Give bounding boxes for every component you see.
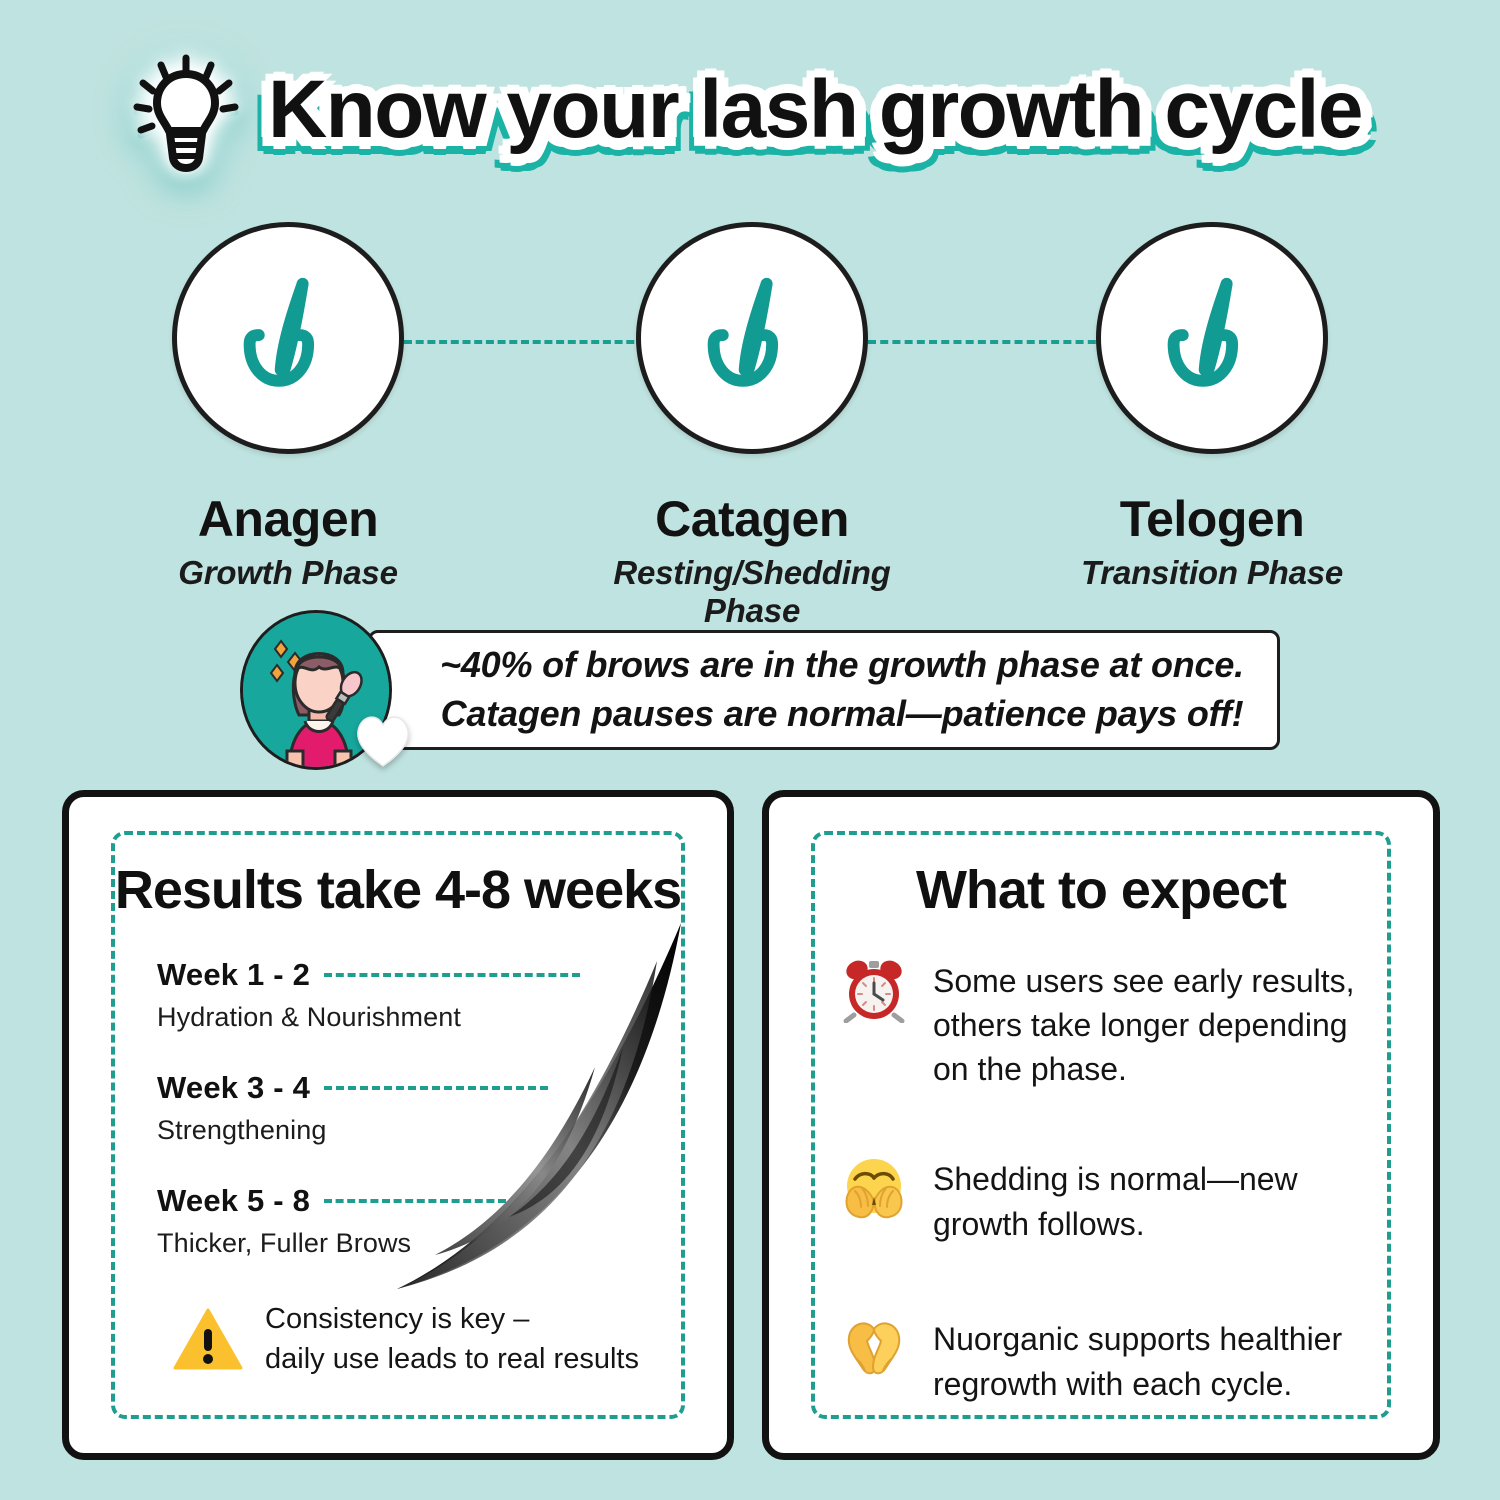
expectations-list: Some users see early results, others tak… <box>841 957 1375 1475</box>
alarm-clock-icon <box>841 957 907 1023</box>
list-item: Some users see early results, others tak… <box>841 957 1375 1091</box>
week-dashed-line <box>324 1086 548 1090</box>
note-line-1: Consistency is key – <box>265 1303 529 1335</box>
week-item: Week 3 - 4 Strengthening <box>157 1070 677 1183</box>
phase-anagen: Anagen Growth Phase <box>138 222 438 592</box>
page-title: Know your lash growth cycle <box>260 63 1370 163</box>
week-head: Week 5 - 8 <box>157 1183 677 1219</box>
page-header: Know your lash growth cycle <box>0 48 1500 178</box>
heart-hands-icon <box>841 1315 907 1381</box>
phase-catagen: Catagen Resting/Shedding Phase <box>602 222 902 630</box>
consistency-note-text: Consistency is key – daily use leads to … <box>265 1299 639 1379</box>
week-label: Week 1 - 2 <box>157 957 310 993</box>
phase-name: Catagen <box>602 490 902 548</box>
weeks-list: Week 1 - 2 Hydration & Nourishment Week … <box>157 957 677 1296</box>
phase-circle <box>1096 222 1328 454</box>
phase-subtitle: Growth Phase <box>138 554 438 592</box>
week-item: Week 5 - 8 Thicker, Fuller Brows <box>157 1183 677 1296</box>
face-with-hands-over-mouth-icon <box>841 1155 907 1221</box>
week-head: Week 3 - 4 <box>157 1070 677 1106</box>
expectations-panel-title: What to expect <box>769 859 1433 921</box>
list-item: Nuorganic supports healthier regrowth wi… <box>841 1315 1375 1411</box>
week-description: Strengthening <box>157 1115 677 1146</box>
phase-row: Anagen Growth Phase Catagen Resting/Shed… <box>0 222 1500 582</box>
white-heart-icon <box>352 710 414 768</box>
expectation-text: Some users see early results, others tak… <box>933 957 1375 1091</box>
consistency-note: Consistency is key – daily use leads to … <box>173 1299 673 1379</box>
hair-follicle-icon <box>1148 267 1276 410</box>
week-dashed-line <box>324 1199 506 1203</box>
results-panel: Results take 4-8 weeks <box>62 790 734 1460</box>
phase-telogen: Telogen Transition Phase <box>1062 222 1362 592</box>
week-head: Week 1 - 2 <box>157 957 677 993</box>
phase-circle <box>172 222 404 454</box>
week-item: Week 1 - 2 Hydration & Nourishment <box>157 957 677 1070</box>
expectation-text: Shedding is normal—new growth follows. <box>933 1155 1375 1245</box>
expectations-panel: What to expect <box>762 790 1440 1460</box>
warning-triangle-icon <box>173 1307 243 1371</box>
quote-line-2-emphasis: patience pays off! <box>942 693 1244 734</box>
list-item: Shedding is normal—new growth follows. <box>841 1155 1375 1251</box>
week-description: Hydration & Nourishment <box>157 1002 677 1033</box>
phase-name: Telogen <box>1062 490 1362 548</box>
quote-line-2: Catagen pauses are normal—patience pays … <box>441 690 1244 739</box>
week-description: Thicker, Fuller Brows <box>157 1228 677 1259</box>
note-line-2: daily use leads to real results <box>265 1343 639 1375</box>
phase-subtitle: Transition Phase <box>1062 554 1362 592</box>
quote-line-2-prefix: Catagen pauses are normal— <box>441 693 942 734</box>
week-label: Week 3 - 4 <box>157 1070 310 1106</box>
hair-follicle-icon <box>688 267 816 410</box>
quote-callout: ~40% of brows are in the growth phase at… <box>240 608 1280 773</box>
hair-follicle-icon <box>224 267 352 410</box>
quote-line-1: ~40% of brows are in the growth phase at… <box>440 641 1244 690</box>
lightbulb-icon <box>130 54 242 172</box>
results-panel-title: Results take 4-8 weeks <box>69 859 727 921</box>
phase-name: Anagen <box>138 490 438 548</box>
week-label: Week 5 - 8 <box>157 1183 310 1219</box>
quote-box: ~40% of brows are in the growth phase at… <box>368 630 1280 750</box>
phase-circle <box>636 222 868 454</box>
week-dashed-line <box>324 973 580 977</box>
expectation-text: Nuorganic supports healthier regrowth wi… <box>933 1315 1375 1405</box>
